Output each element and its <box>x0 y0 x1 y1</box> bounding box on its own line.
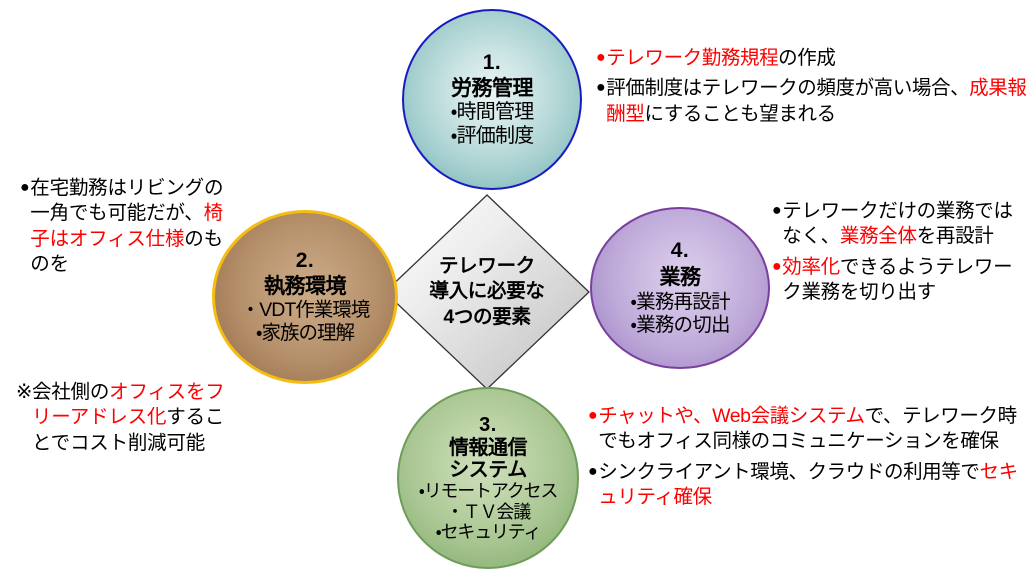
note-item: ●チャットや、Web会議システムで、テレワーク時でもオフィス同様のコミュニケーシ… <box>588 404 1028 455</box>
circle-4-bullet-1: ・業務再設計 <box>630 291 729 314</box>
note-item-text: 評価制度はテレワークの頻度が高い場合、成果報酬型にすることも望まれる <box>606 76 1028 127</box>
note-labor-management: ●テレワーク勤務規程の作成●評価制度はテレワークの頻度が高い場合、成果報酬型にす… <box>596 46 1028 127</box>
circle-3-title-2: システム <box>449 459 526 481</box>
bullet-icon: ● <box>772 199 781 224</box>
note-item: ●シンクライアント環境、クラウドの利用等でセキュリティ確保 <box>588 460 1028 511</box>
note-item-text: チャットや、Web会議システムで、テレワーク時でもオフィス同様のコミュニケーショ… <box>598 404 1028 455</box>
circle-3-bullet-3: ・セキュリティ <box>436 522 541 542</box>
bullet-icon: ● <box>772 255 781 280</box>
note-item-text: テレワークだけの業務ではなく、業務全体を再設計 <box>782 199 1028 250</box>
bullet-icon: ● <box>596 46 605 71</box>
circle-shitsumu-kankyou[interactable]: 2. 執務環境 ・VDT作業環境 ・家族の理解 <box>212 210 398 384</box>
note-item-text: 会社側のオフィスをフリーアドレス化することでコスト削減可能 <box>32 380 231 456</box>
note-item: ●テレワークだけの業務ではなく、業務全体を再設計 <box>772 199 1028 250</box>
note-text-run: の作成 <box>778 47 835 69</box>
center-diamond: テレワーク 導入に必要な 4つの要素 <box>383 193 591 391</box>
note-work-environment: ●在宅勤務はリビングの一角でも可能だが、椅子はオフィス仕様のものを <box>20 176 225 277</box>
note-ict-system: ●チャットや、Web会議システムで、テレワーク時でもオフィス同様のコミュニケーシ… <box>588 404 1028 510</box>
note-text-run: シンクライアント環境、クラウドの利用等で <box>598 461 979 483</box>
circle-1-number: 1. <box>483 51 502 76</box>
note-item: ※会社側のオフィスをフリーアドレス化することでコスト削減可能 <box>16 380 231 456</box>
center-line-2: 導入に必要な <box>429 279 544 304</box>
circle-1-title: 労務管理 <box>451 77 533 102</box>
circle-2-bullet-1: ・VDT作業環境 <box>241 299 370 322</box>
note-text-run: 会社側の <box>32 381 109 403</box>
circle-2-number: 2. <box>296 249 315 274</box>
note-text-run: にすることも望まれる <box>644 103 835 125</box>
note-text-run: 効率化 <box>782 256 840 278</box>
note-item-text: 効率化できるようテレワーク業務を切り出す <box>782 255 1028 306</box>
note-item: ●評価制度はテレワークの頻度が高い場合、成果報酬型にすることも望まれる <box>596 76 1028 127</box>
diagram-canvas: テレワーク 導入に必要な 4つの要素 1. 労務管理 ・時間管理 ・評価制度 2… <box>0 0 1030 579</box>
center-diamond-label: テレワーク 導入に必要な 4つの要素 <box>383 193 591 391</box>
note-text-run: テレワーク勤務規程 <box>606 47 778 69</box>
circle-1-bullet-2: ・評価制度 <box>451 125 534 148</box>
note-item: ●テレワーク勤務規程の作成 <box>596 46 1028 71</box>
note-business-redesign: ●テレワークだけの業務ではなく、業務全体を再設計●効率化できるようテレワーク業務… <box>772 199 1028 305</box>
center-line-1: テレワーク <box>439 254 535 279</box>
note-item-text: テレワーク勤務規程の作成 <box>606 46 1028 71</box>
bullet-icon: ● <box>588 404 597 429</box>
circle-2-title: 執務環境 <box>264 275 346 300</box>
note-text-run: 在宅勤務はリビングの一角でも可能だが、 <box>30 177 223 224</box>
circle-gyoumu[interactable]: 4. 業務 ・業務再設計 ・業務の切出 <box>590 207 770 369</box>
note-item: ●在宅勤務はリビングの一角でも可能だが、椅子はオフィス仕様のものを <box>20 176 225 277</box>
circle-4-title: 業務 <box>660 266 701 291</box>
circle-4-number: 4. <box>671 239 690 264</box>
bullet-icon: ● <box>588 460 597 485</box>
bullet-icon: ● <box>596 76 605 101</box>
kome-marker-icon: ※ <box>16 380 32 405</box>
circle-3-bullet-1: ・リモートアクセス <box>419 481 557 501</box>
circle-4-bullet-2: ・業務の切出 <box>630 314 729 337</box>
note-text-run: 評価制度はテレワークの頻度が高い場合、 <box>606 77 969 99</box>
note-item: ●効率化できるようテレワーク業務を切り出す <box>772 255 1028 306</box>
note-text-run: チャットや、Web会議システム <box>598 405 864 427</box>
bullet-icon: ● <box>20 176 29 201</box>
note-text-run: 業務全体 <box>840 225 917 247</box>
note-text-run: を再設計 <box>917 225 994 247</box>
circle-2-bullet-2: ・家族の理解 <box>256 322 354 345</box>
note-item-text: 在宅勤務はリビングの一角でも可能だが、椅子はオフィス仕様のものを <box>30 176 225 277</box>
circle-3-title: 情報通信 <box>449 437 527 459</box>
circle-roumu-kanri[interactable]: 1. 労務管理 ・時間管理 ・評価制度 <box>402 9 582 190</box>
circle-jouhou-tsuushin-system[interactable]: 3. 情報通信 システム ・リモートアクセス ・ＴＶ会議 ・セキュリティ <box>397 387 579 569</box>
note-free-address: ※会社側のオフィスをフリーアドレス化することでコスト削減可能 <box>16 380 231 456</box>
circle-3-bullet-2: ・ＴＶ会議 <box>446 502 530 522</box>
note-item-text: シンクライアント環境、クラウドの利用等でセキュリティ確保 <box>598 460 1028 511</box>
center-line-3: 4つの要素 <box>443 305 530 330</box>
circle-1-bullet-1: ・時間管理 <box>451 101 534 124</box>
circle-3-number: 3. <box>479 414 497 436</box>
